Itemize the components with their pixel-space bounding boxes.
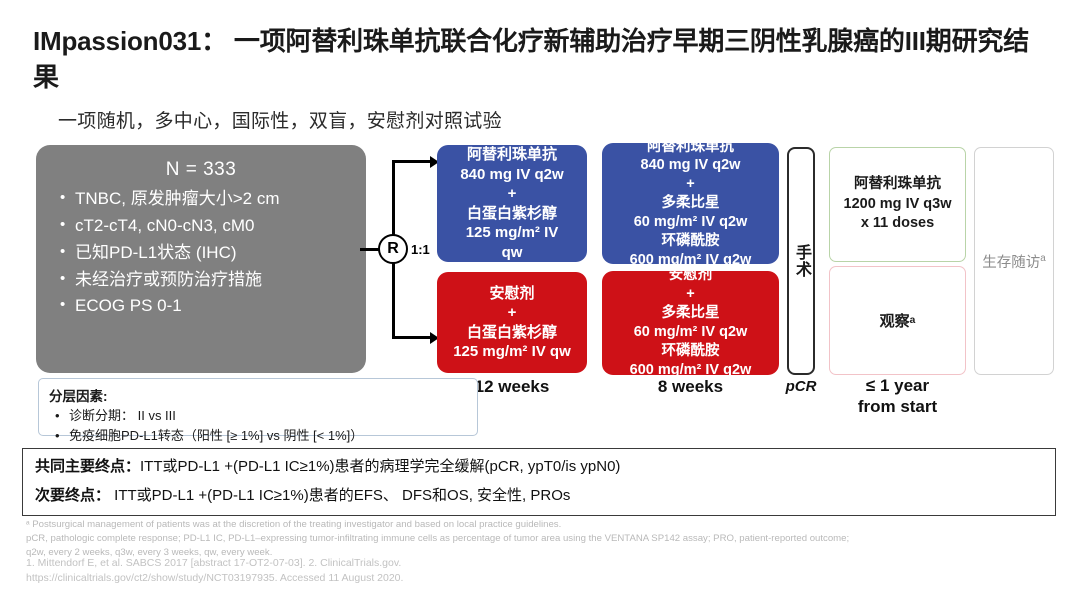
primary-endpoint-row: 共同主要终点：ITT或PD-L1 +(PD-L1 IC≥1%)患者的病理学完全缓… <box>35 456 1043 478</box>
population-count: N = 333 <box>52 159 350 181</box>
drug-schedule: qw <box>460 243 563 263</box>
drug-dose: 840 mg IV q2w <box>460 165 563 185</box>
population-box: N = 333 • TNBC, 原发肿瘤大小>2 cm • cT2-cT4, c… <box>36 145 366 373</box>
list-item: • 已知PD-L1状态 (IHC) <box>52 240 350 267</box>
footnote-line: pCR, pathologic complete response; PD-L1… <box>26 532 1066 546</box>
stratification-box: 分层因素: • 诊断分期： II vs III • 免疫细胞PD-L1转态（阳性… <box>38 378 478 436</box>
timeline-label-phase2: 8 weeks <box>602 377 779 397</box>
surgery-box: 手术 <box>787 147 815 375</box>
inclusion-criterion: 已知PD-L1状态 (IHC) <box>75 240 237 267</box>
stratification-factor: 免疫细胞PD-L1转态（阳性 [≥ 1%] vs 阴性 [< 1%]） <box>69 426 363 446</box>
bullet-icon: • <box>60 293 75 317</box>
footnote-line: ᵃ Postsurgical management of patients wa… <box>26 518 1066 532</box>
drug-dose: 60 mg/m² IV q2w <box>630 323 752 342</box>
secondary-endpoint-row: 次要终点： ITT或PD-L1 +(PD-L1 IC≥1%)患者的EFS、 DF… <box>35 485 1043 507</box>
list-item: • 免疫细胞PD-L1转态（阳性 [≥ 1%] vs 阴性 [< 1%]） <box>49 426 467 446</box>
reference-line: 1. Mittendorf E, et al. SABCS 2017 [abst… <box>26 556 1066 571</box>
treatment-box-control-phase1: 安慰剂 + 白蛋白紫杉醇 125 mg/m² IV qw <box>437 272 587 373</box>
drug-name: 环磷酰胺 <box>630 342 752 361</box>
list-item: • ECOG PS 0-1 <box>52 293 350 320</box>
primary-endpoint-label: 共同主要终点： <box>35 458 140 475</box>
drug-name: 阿替利珠单抗 <box>460 145 563 165</box>
timeline-label-pcr: pCR <box>772 378 830 395</box>
timeline-label-maintenance: ≤ 1 year from start <box>829 376 966 417</box>
surgery-label: 手术 <box>789 244 813 278</box>
primary-endpoint-text: ITT或PD-L1 +(PD-L1 IC≥1%)患者的病理学完全缓解(pCR, … <box>140 458 620 475</box>
connector-line <box>392 336 434 339</box>
page-title: IMpassion031： 一项阿替利珠单抗联合化疗新辅助治疗早期三阴性乳腺癌的… <box>33 24 1033 96</box>
stratification-factor: 诊断分期： II vs III <box>69 406 176 426</box>
list-item: • 诊断分期： II vs III <box>49 406 467 426</box>
drug-dose: 125 mg/m² IV <box>460 223 563 243</box>
list-item: • 未经治疗或预防治疗措施 <box>52 267 350 294</box>
timeline-duration-qualifier: from start <box>829 397 966 418</box>
timeline-duration: ≤ 1 year <box>829 376 966 397</box>
drug-dose: 840 mg IV q2w <box>630 156 752 175</box>
footnote-marker: a <box>1040 253 1045 264</box>
endpoints-box: 共同主要终点：ITT或PD-L1 +(PD-L1 IC≥1%)患者的病理学完全缓… <box>22 448 1056 516</box>
drug-dose: 125 mg/m² IV qw <box>453 342 571 362</box>
plus-symbol: + <box>630 175 752 194</box>
bullet-icon: • <box>60 267 75 291</box>
reference-url[interactable]: https://clinicaltrials.gov/ct2/show/stud… <box>26 571 1066 586</box>
treatment-box-experimental-phase1: 阿替利珠单抗 840 mg IV q2w + 白蛋白紫杉醇 125 mg/m² … <box>437 145 587 262</box>
drug-name: 安慰剂 <box>453 284 571 304</box>
drug-name: 阿替利珠单抗 <box>630 138 752 157</box>
observation-label: 观察 <box>880 310 910 331</box>
drug-dose: 60 mg/m² IV q2w <box>630 213 752 232</box>
footnote-marker: a <box>910 315 916 326</box>
allocation-ratio: 1:1 <box>411 242 430 257</box>
observation-box: 观察a <box>829 266 966 375</box>
inclusion-criterion: ECOG PS 0-1 <box>75 293 182 320</box>
bullet-icon: • <box>49 406 69 426</box>
drug-name: 环磷酰胺 <box>630 232 752 251</box>
footnotes: ᵃ Postsurgical management of patients wa… <box>26 518 1066 559</box>
list-item: • cT2-cT4, cN0-cN3, cM0 <box>52 213 350 240</box>
bullet-icon: • <box>60 186 75 210</box>
inclusion-criterion: 未经治疗或预防治疗措施 <box>75 267 262 294</box>
treatment-box-control-phase2: 安慰剂 + 多柔比星 60 mg/m² IV q2w 环磷酰胺 600 mg/m… <box>602 271 779 375</box>
drug-name: 安慰剂 <box>630 266 752 285</box>
list-item: • TNBC, 原发肿瘤大小>2 cm <box>52 186 350 213</box>
slide-canvas: IMpassion031： 一项阿替利珠单抗联合化疗新辅助治疗早期三阴性乳腺癌的… <box>0 0 1080 599</box>
drug-name: 阿替利珠单抗 <box>844 175 952 194</box>
followup-box: 生存随访a <box>974 147 1054 375</box>
maintenance-box: 阿替利珠单抗 1200 mg IV q3w x 11 doses <box>829 147 966 262</box>
bullet-icon: • <box>60 240 75 264</box>
plus-symbol: + <box>630 285 752 304</box>
followup-label: 生存随访 <box>982 255 1040 271</box>
connector-line <box>392 160 434 163</box>
treatment-box-experimental-phase2: 阿替利珠单抗 840 mg IV q2w + 多柔比星 60 mg/m² IV … <box>602 143 779 264</box>
inclusion-criterion: cT2-cT4, cN0-cN3, cM0 <box>75 213 254 240</box>
randomization-node: R 1:1 <box>366 150 436 370</box>
drug-dose: 1200 mg IV q3w <box>844 195 952 214</box>
plus-symbol: + <box>453 303 571 323</box>
page-subtitle: 一项随机，多中心，国际性，双盲，安慰剂对照试验 <box>58 106 502 133</box>
drug-name: 白蛋白紫杉醇 <box>453 323 571 343</box>
plus-symbol: + <box>460 184 563 204</box>
inclusion-criterion: TNBC, 原发肿瘤大小>2 cm <box>75 186 280 213</box>
bullet-icon: • <box>60 213 75 237</box>
stratification-title: 分层因素: <box>49 385 467 405</box>
dose-count: x 11 doses <box>844 214 952 233</box>
drug-name: 白蛋白紫杉醇 <box>460 204 563 224</box>
secondary-endpoint-label: 次要终点： <box>35 487 110 504</box>
randomization-icon: R <box>378 234 408 264</box>
secondary-endpoint-text: ITT或PD-L1 +(PD-L1 IC≥1%)患者的EFS、 DFS和OS, … <box>110 487 570 504</box>
drug-name: 多柔比星 <box>630 304 752 323</box>
drug-name: 多柔比星 <box>630 194 752 213</box>
connector-line <box>360 248 380 251</box>
references: 1. Mittendorf E, et al. SABCS 2017 [abst… <box>26 556 1066 586</box>
bullet-icon: • <box>49 426 69 446</box>
